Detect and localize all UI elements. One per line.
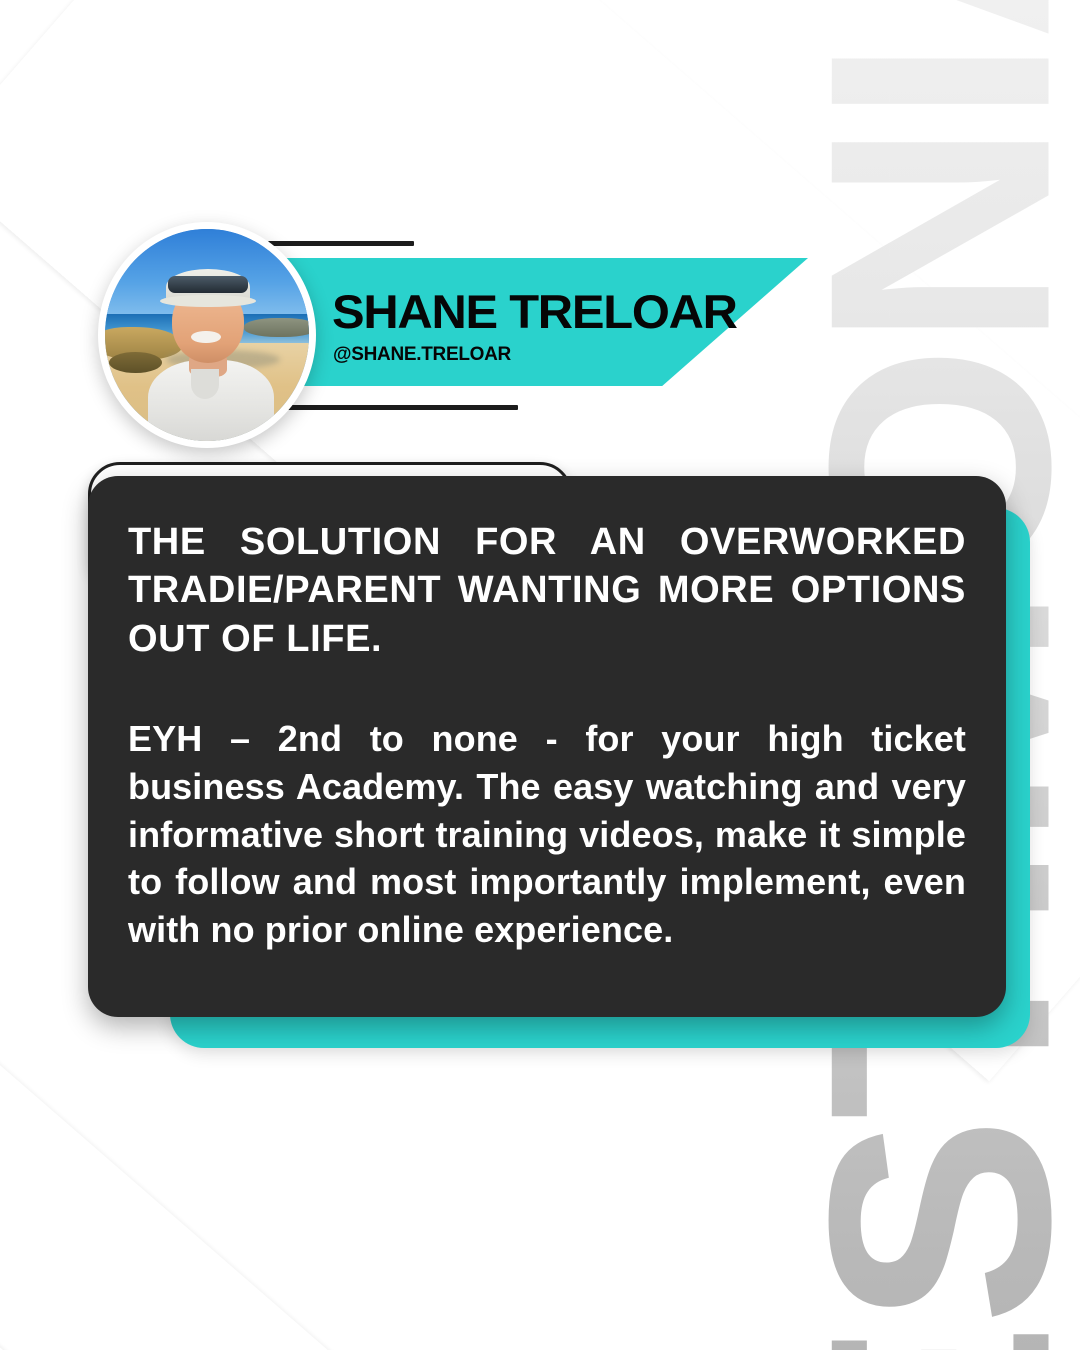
testimonial-graphic: TESTIMONIAL SHANE TRELOAR @SHANE.TRELOAR <box>0 0 1080 1350</box>
quote-body: EYH – 2nd to none - for your high ticket… <box>128 715 966 954</box>
profile-name: SHANE TRELOAR <box>332 288 737 335</box>
quote-card: THE SOLUTION FOR AN OVERWORKED TRADIE/PA… <box>88 476 1006 1017</box>
photo-person-collar <box>191 369 220 399</box>
avatar-photo <box>105 229 309 441</box>
photo-person-sunglasses <box>168 276 248 293</box>
photo-rocks-right <box>244 318 309 337</box>
profile-header: SHANE TRELOAR @SHANE.TRELOAR <box>0 0 1080 470</box>
profile-handle: @SHANE.TRELOAR <box>333 345 511 364</box>
quote-heading: THE SOLUTION FOR AN OVERWORKED TRADIE/PA… <box>128 518 966 663</box>
background-facet-lower <box>0 1130 656 1350</box>
decorative-rule-bottom <box>288 405 518 410</box>
photo-rocks-left-lower <box>109 352 162 373</box>
avatar <box>98 222 316 448</box>
